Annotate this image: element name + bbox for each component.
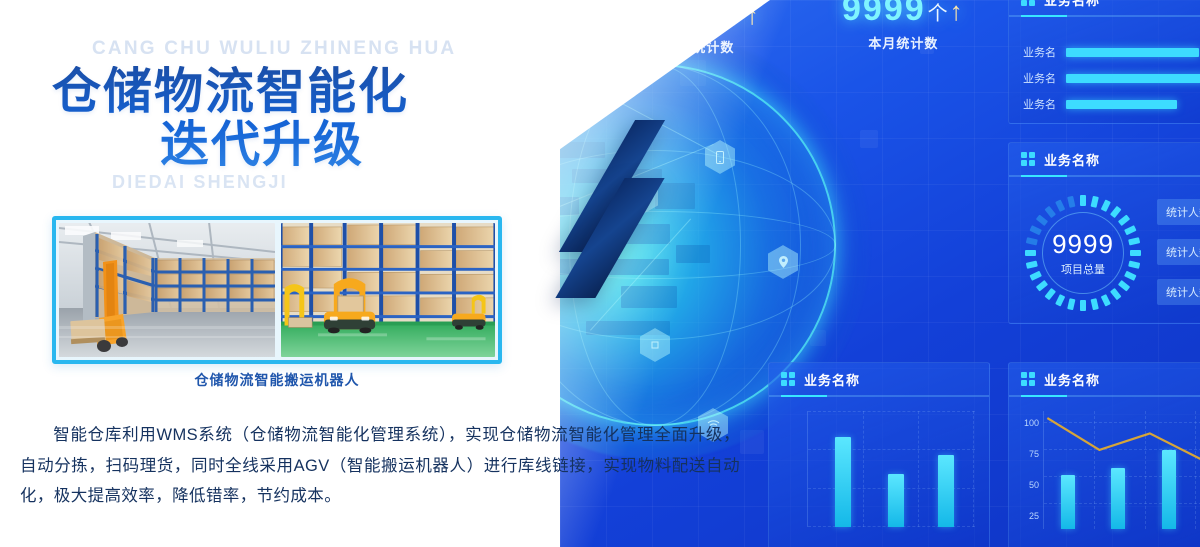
gauge-value: 9999 [1052, 229, 1114, 260]
counter-week-caption: 本周统计数 [638, 37, 761, 56]
body-paragraph: 智能仓库利用WMS系统（仓储物流智能化管理系统），实现仓储物流智能化管理全面升级… [20, 420, 740, 512]
chart-bar [938, 455, 954, 527]
y-axis: 100 75 50 25 [1015, 411, 1041, 545]
project-total-gauge: 9999 项目总量 [1025, 195, 1141, 311]
panel-header: 业务名称 [1009, 143, 1200, 177]
y-tick: 25 [1029, 511, 1039, 521]
gauge-tick [1080, 300, 1086, 311]
panel-bar-chart-left[interactable]: 业务名称 [768, 362, 990, 547]
y-tick: 100 [1024, 418, 1039, 428]
panel-header: 业务名称 [769, 363, 989, 397]
stat-pill[interactable]: 统计人数 [1157, 239, 1200, 265]
headline-line-1: 仓储物流智能化 [52, 65, 409, 119]
counter-month-value: 9999个↑ [842, 0, 965, 29]
plot-area [807, 411, 975, 527]
combo-chart: 100 75 50 25 [1015, 411, 1200, 545]
panel-title: 业务名称 [1044, 370, 1100, 389]
photo-gallery-frame [52, 216, 502, 364]
bar-chart-left [779, 411, 979, 543]
panel-title: 业务名称 [1044, 150, 1100, 169]
business-row-bar [1066, 48, 1199, 57]
trend-line [1044, 411, 1200, 529]
y-tick: 50 [1029, 480, 1039, 490]
grid-squares-icon [781, 372, 795, 386]
list-item[interactable]: 业务名 [1009, 91, 1200, 117]
gauge-caption: 项目总量 [1061, 261, 1105, 277]
photo-caption: 仓储物流智能搬运机器人 [52, 370, 502, 390]
body-text: 智能仓库利用WMS系统（仓储物流智能化管理系统），实现仓储物流智能化管理全面升级… [20, 426, 740, 505]
gauge-tick [1130, 250, 1141, 256]
warehouse-forklift-photo [59, 223, 275, 357]
arrow-up-icon: ↑ [950, 0, 965, 26]
panel-combo-chart[interactable]: 业务名称 100 75 50 25 [1008, 362, 1200, 547]
business-row-label: 业务名 [1023, 44, 1056, 60]
grid-squares-icon [1021, 0, 1035, 6]
panel-title: 业务名称 [804, 370, 860, 389]
y-tick: 75 [1029, 449, 1039, 459]
stat-pill[interactable]: 统计人数 [1157, 199, 1200, 225]
list-item[interactable]: 业务名 [1009, 65, 1200, 91]
warehouse-agv-robot-photo [281, 223, 495, 357]
panel-header: 业务名称 [1009, 0, 1200, 17]
gauge-tick [1080, 195, 1086, 206]
chart-bar [835, 437, 851, 527]
business-row-bar [1066, 74, 1200, 83]
stat-pill[interactable]: 统计人数 [1157, 279, 1200, 305]
plot-area [1043, 411, 1200, 529]
poster-canvas: 9999个↑ 本周统计数 9999个↑ 本月统计数 业务名称 业务名 业务名 [0, 0, 1200, 547]
counter-month-caption: 本月统计数 [842, 33, 965, 52]
panel-project-total[interactable]: 业务名称 9999 项目总量 统计人数 统计人数 统计人数 [1008, 142, 1200, 324]
counter-week: 9999个↑ 本周统计数 [638, 0, 761, 56]
chart-bar [888, 474, 904, 527]
grid-squares-icon [1021, 152, 1035, 166]
pinyin-heading-top: CANG CHU WULIU ZHINENG HUA [92, 38, 456, 60]
counter-month: 9999个↑ 本月统计数 [842, 0, 965, 52]
panel-title: 业务名称 [1044, 0, 1100, 9]
business-row-bar [1066, 100, 1177, 109]
business-row-label: 业务名 [1023, 96, 1056, 112]
grid-squares-icon [1021, 372, 1035, 386]
panel-business-ranking[interactable]: 业务名称 业务名 业务名 业务名 [1008, 0, 1200, 124]
page-title: 仓储物流智能化 迭代升级 [52, 66, 472, 172]
headline-line-2: 迭代升级 [52, 119, 472, 172]
list-item[interactable]: 业务名 [1009, 39, 1200, 65]
gauge-tick [1025, 250, 1036, 256]
counter-week-value: 9999个↑ [638, 0, 761, 33]
business-row-label: 业务名 [1023, 70, 1056, 86]
panel-header: 业务名称 [1009, 363, 1200, 397]
pinyin-heading-bottom: DIEDAI SHENGJI [112, 172, 288, 193]
arrow-up-icon: ↑ [746, 0, 761, 30]
